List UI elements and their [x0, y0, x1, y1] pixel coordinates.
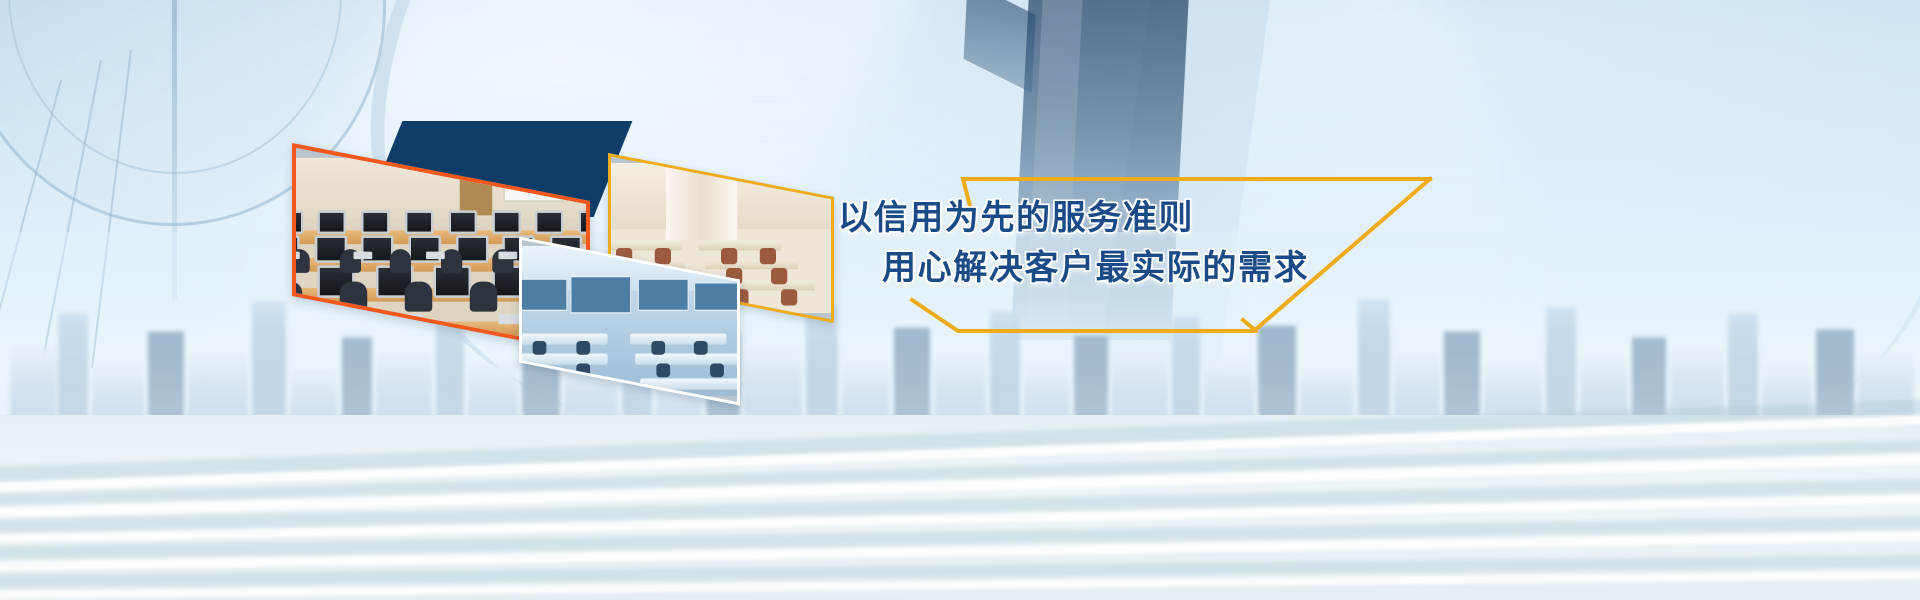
yellow-bracket-frame — [0, 0, 1920, 600]
headline-line-2: 用心解决客户最实际的需求 — [882, 246, 1358, 292]
bracket-bottom-path — [912, 300, 1256, 331]
bracket-right-tick — [1243, 320, 1255, 330]
headline-line-1: 以信用为先的服务准则 — [838, 196, 1358, 242]
headline-block: 以信用为先的服务准则 用心解决客户最实际的需求 — [838, 196, 1358, 291]
hero-banner: 以信用为先的服务准则 用心解决客户最实际的需求 — [0, 0, 1920, 600]
